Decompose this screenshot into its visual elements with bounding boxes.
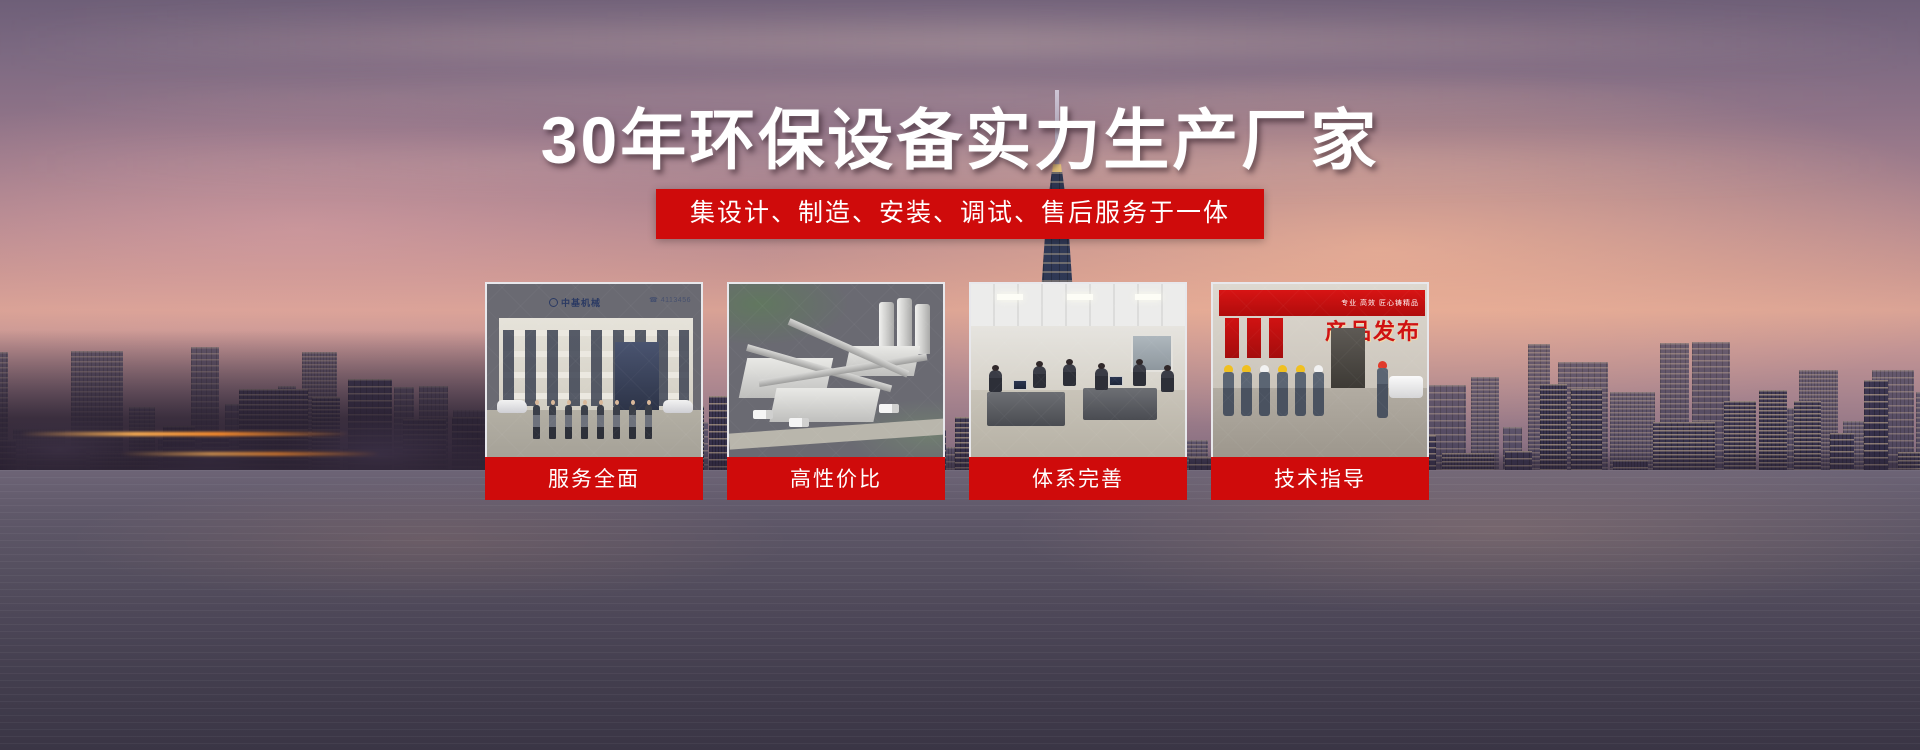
- office-desk: [987, 392, 1065, 426]
- worker-figure: [1295, 372, 1306, 416]
- staff-figure: [629, 405, 636, 439]
- phone-plate: ☎ 4113456: [649, 296, 691, 304]
- card-caption: 体系完善: [969, 457, 1187, 500]
- card-caption: 高性价比: [727, 457, 945, 500]
- vertical-banner: [1225, 318, 1239, 358]
- delivery-truck: [789, 418, 809, 427]
- office-worker: [1095, 368, 1108, 390]
- card-photo-company-headquarters: 中基机械 ☎ 4113456: [485, 282, 703, 457]
- worker-figure: [1277, 372, 1288, 416]
- ceiling-light: [1067, 294, 1093, 300]
- delivery-truck: [753, 410, 773, 419]
- parked-van: [1389, 376, 1423, 398]
- banner-content: 30年环保设备实力生产厂家 集设计、制造、安装、调试、售后服务于一体 中基机械 …: [0, 0, 1920, 750]
- parked-car: [497, 400, 527, 413]
- worker-figure: [1313, 372, 1324, 416]
- office-worker: [1063, 364, 1076, 386]
- headquarters-building: [499, 318, 693, 410]
- staff-figure: [645, 405, 652, 439]
- parked-car: [663, 400, 693, 413]
- card-photo-office-interior: [969, 282, 1187, 457]
- ceiling-light: [997, 294, 1023, 300]
- staff-figure: [549, 405, 556, 439]
- computer-monitor: [1109, 376, 1123, 386]
- feature-card[interactable]: 中基机械 ☎ 4113456 服务全面: [485, 282, 703, 500]
- logo-mark-icon: [549, 298, 558, 307]
- office-worker: [1033, 366, 1046, 388]
- card-photo-workshop-training: 专业 高效 匠心铸精品 产品发布: [1211, 282, 1429, 457]
- factory-shed: [769, 388, 880, 422]
- building-entrance: [615, 342, 659, 410]
- office-worker: [1161, 370, 1174, 392]
- card-caption: 服务全面: [485, 457, 703, 500]
- subtitle-badge: 集设计、制造、安装、调试、售后服务于一体: [656, 189, 1264, 239]
- forecourt-ground: [487, 410, 703, 457]
- feature-card[interactable]: 高性价比: [727, 282, 945, 500]
- hero-banner: 30年环保设备实力生产厂家 集设计、制造、安装、调试、售后服务于一体 中基机械 …: [0, 0, 1920, 750]
- card-photo-industrial-plant: [727, 282, 945, 457]
- card-caption: 技术指导: [1211, 457, 1429, 500]
- workshop-door: [1331, 328, 1365, 390]
- worker-figure: [1223, 372, 1234, 416]
- staff-figure: [565, 405, 572, 439]
- staff-figure: [597, 405, 604, 439]
- office-ceiling: [971, 284, 1187, 326]
- worker-figure: [1259, 372, 1270, 416]
- computer-monitor: [1013, 380, 1027, 390]
- office-worker: [1133, 364, 1146, 386]
- workshop-slogan-banner: 专业 高效 匠心铸精品: [1219, 290, 1425, 316]
- feature-card[interactable]: 体系完善: [969, 282, 1187, 500]
- staff-figure: [533, 405, 540, 439]
- office-worker: [989, 370, 1002, 392]
- delivery-truck: [879, 404, 899, 413]
- feature-card[interactable]: 专业 高效 匠心铸精品 产品发布 技术: [1211, 282, 1429, 500]
- supervisor-figure: [1377, 368, 1388, 418]
- office-desk: [1083, 388, 1157, 420]
- page-title: 30年环保设备实力生产厂家: [0, 104, 1920, 176]
- vertical-banner: [1247, 318, 1261, 358]
- ceiling-light: [1135, 294, 1161, 300]
- company-logo-text: 中基机械: [561, 298, 601, 308]
- staff-figure: [581, 405, 588, 439]
- staff-figure: [613, 405, 620, 439]
- worker-figure: [1241, 372, 1252, 416]
- vertical-banner: [1269, 318, 1283, 358]
- company-logo: 中基机械: [549, 296, 601, 309]
- feature-card-list: 中基机械 ☎ 4113456 服务全面: [485, 282, 1435, 500]
